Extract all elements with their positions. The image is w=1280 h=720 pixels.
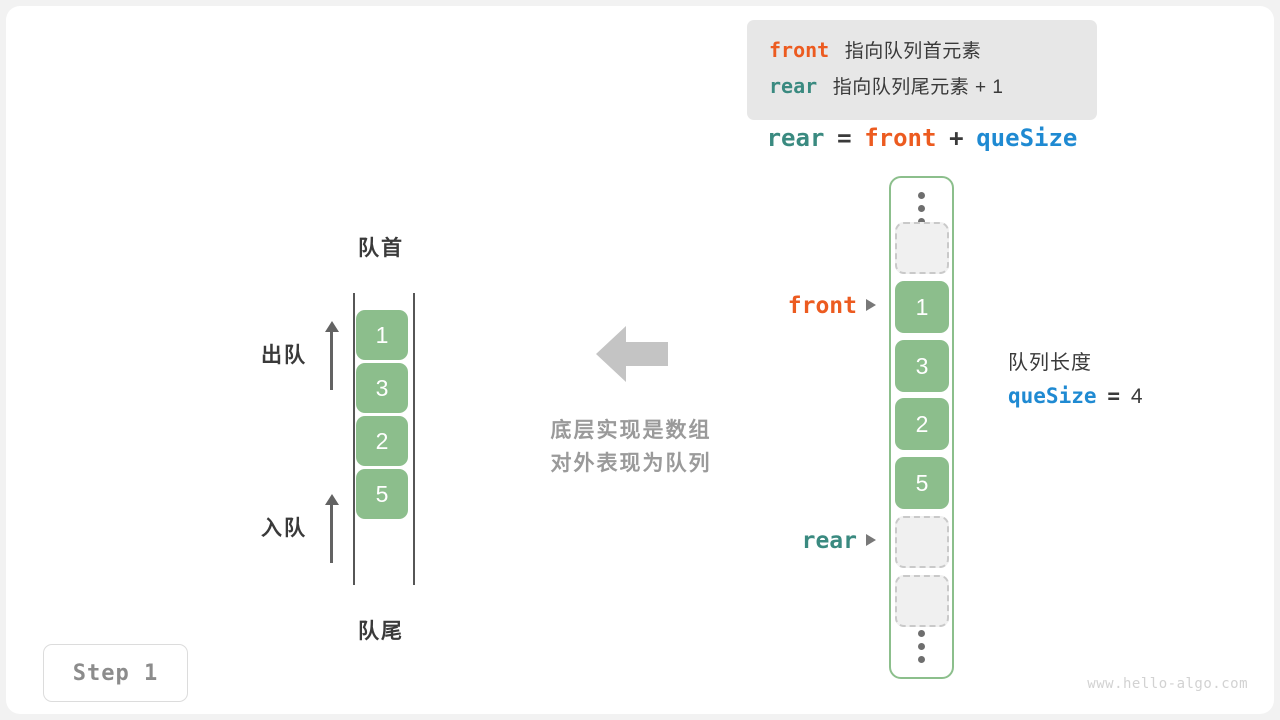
step-badge: Step 1 bbox=[43, 644, 188, 702]
array-cell-3-value: 2 bbox=[916, 411, 929, 438]
left-arrow-icon bbox=[596, 324, 668, 384]
queue-rail-left bbox=[353, 293, 355, 585]
array-cell-6[interactable] bbox=[895, 575, 949, 627]
formula-line: rear = front + queSize bbox=[747, 124, 1097, 153]
queue-cell-0[interactable]: 1 bbox=[356, 310, 408, 360]
array-cell-1[interactable]: 1 bbox=[895, 281, 949, 333]
dequeue-label: 出队 bbox=[261, 339, 307, 369]
diagram-card: front 指向队列首元素 rear 指向队列尾元素 + 1 rear = fr… bbox=[6, 6, 1274, 714]
legend-term-rear: rear bbox=[769, 74, 817, 98]
enqueue-arrow-icon bbox=[324, 494, 340, 554]
array-cell-1-value: 1 bbox=[916, 294, 929, 321]
array-cell-4-value: 5 bbox=[916, 470, 929, 497]
ellipsis-bottom-icon bbox=[918, 630, 926, 663]
queue-tail-label: 队尾 bbox=[311, 615, 451, 645]
quesize-note-name: queSize bbox=[1008, 384, 1097, 408]
quesize-note-expr: queSize = 4 bbox=[1008, 384, 1143, 409]
quesize-note-title: 队列长度 bbox=[1008, 346, 1143, 375]
caption-line-1: 底层实现是数组 bbox=[506, 414, 756, 447]
array-cell-4[interactable]: 5 bbox=[895, 457, 949, 509]
queue-cell-0-value: 1 bbox=[376, 322, 389, 349]
formula-quesize: queSize bbox=[976, 124, 1077, 152]
formula-rear: rear bbox=[767, 124, 825, 152]
array-cell-2[interactable]: 3 bbox=[895, 340, 949, 392]
queue-cell-1[interactable]: 3 bbox=[356, 363, 408, 413]
queue-cell-3-value: 5 bbox=[376, 481, 389, 508]
queue-cell-2[interactable]: 2 bbox=[356, 416, 408, 466]
pointer-rear-label: rear bbox=[802, 528, 857, 554]
queue-cell-3[interactable]: 5 bbox=[356, 469, 408, 519]
caption-line-2: 对外表现为队列 bbox=[506, 447, 756, 480]
quesize-note-value: 4 bbox=[1131, 385, 1143, 408]
legend-text-front: 指向队列首元素 bbox=[845, 41, 982, 62]
legend-box: front 指向队列首元素 rear 指向队列尾元素 + 1 bbox=[747, 20, 1097, 120]
array-container: 1 3 2 5 bbox=[889, 176, 954, 679]
quesize-note-equals: = bbox=[1107, 384, 1120, 408]
caption-block: 底层实现是数组 对外表现为队列 bbox=[506, 414, 756, 480]
pointer-rear-arrow-icon bbox=[866, 534, 876, 546]
dequeue-arrow-icon bbox=[324, 321, 340, 381]
array-cell-5[interactable] bbox=[895, 516, 949, 568]
array-cell-2-value: 3 bbox=[916, 353, 929, 380]
formula-equals: = bbox=[837, 124, 851, 152]
array-cell-0[interactable] bbox=[895, 222, 949, 274]
pointer-front-label: front bbox=[788, 293, 857, 319]
legend-row-rear: rear 指向队列尾元素 + 1 bbox=[769, 68, 1097, 104]
queue-cell-1-value: 3 bbox=[376, 375, 389, 402]
enqueue-label: 入队 bbox=[261, 512, 307, 542]
array-cell-3[interactable]: 2 bbox=[895, 398, 949, 450]
formula-front: front bbox=[864, 124, 936, 152]
queue-cell-2-value: 2 bbox=[376, 428, 389, 455]
pointer-front-arrow-icon bbox=[866, 299, 876, 311]
pointer-rear: rear bbox=[696, 527, 876, 554]
diagram-canvas: front 指向队列首元素 rear 指向队列尾元素 + 1 rear = fr… bbox=[0, 0, 1280, 720]
watermark: www.hello-algo.com bbox=[1087, 676, 1248, 692]
quesize-note: 队列长度 queSize = 4 bbox=[1008, 346, 1143, 409]
formula-plus: + bbox=[949, 124, 963, 152]
legend-term-front: front bbox=[769, 38, 829, 62]
legend-row-front: front 指向队列首元素 bbox=[769, 32, 1097, 68]
pointer-front: front bbox=[696, 292, 876, 319]
step-badge-label: Step 1 bbox=[73, 661, 158, 686]
ellipsis-top-icon bbox=[918, 192, 926, 225]
queue-rail-right bbox=[413, 293, 415, 585]
legend-text-rear: 指向队列尾元素 + 1 bbox=[833, 77, 1004, 98]
queue-head-label: 队首 bbox=[311, 232, 451, 262]
